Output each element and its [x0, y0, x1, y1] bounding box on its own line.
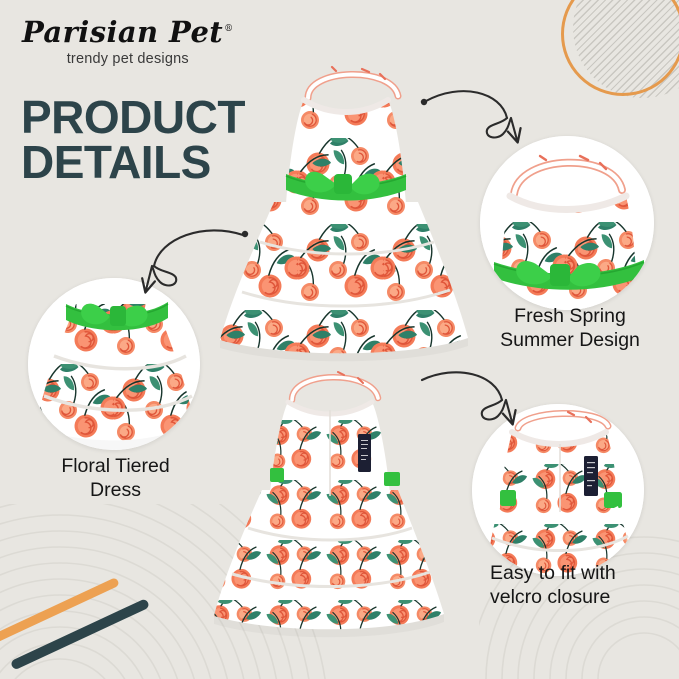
caption-easy-fit-velcro: Easy to fit with velcro closure [490, 562, 675, 610]
velcro-tab-right-inset [604, 492, 622, 508]
brand-label-tag [358, 434, 371, 472]
brand-logo: Parisian Pet® trendy pet designs [22, 18, 234, 67]
infographic-canvas: Parisian Pet® trendy pet designs PRODUCT… [0, 0, 679, 679]
caption-line-1: Floral Tiered [28, 455, 203, 479]
caption-line-2: velcro closure [490, 586, 675, 610]
caption-line-1: Easy to fit with [490, 562, 675, 586]
caption-floral-tiered-dress: Floral Tiered Dress [28, 455, 203, 503]
caption-line-2: Dress [28, 479, 203, 503]
registered-trademark-icon: ® [224, 24, 233, 34]
brand-name-text: Parisian Pet [22, 15, 223, 49]
inset-floral-tiered-dress [28, 278, 200, 450]
velcro-tab-right [384, 472, 400, 486]
brand-tagline: trendy pet designs [22, 51, 234, 67]
brand-name: Parisian Pet® [22, 18, 234, 47]
caption-line-1: Fresh Spring [465, 305, 675, 329]
accent-bar-orange [0, 577, 120, 649]
circle-outline-icon [561, 0, 679, 96]
caption-fresh-spring-summer-design: Fresh Spring Summer Design [465, 305, 675, 353]
inset-fresh-spring-summer-design [480, 136, 654, 310]
caption-line-2: Summer Design [465, 329, 675, 353]
hatched-circle-icon [573, 0, 679, 98]
product-image-main-dress [212, 52, 480, 372]
accent-bar-teal [10, 598, 150, 670]
velcro-tab-left-inset [500, 490, 516, 506]
product-image-back-dress [206, 360, 452, 642]
inset-easy-fit-velcro-closure [472, 404, 644, 576]
velcro-tab-left [270, 468, 284, 482]
